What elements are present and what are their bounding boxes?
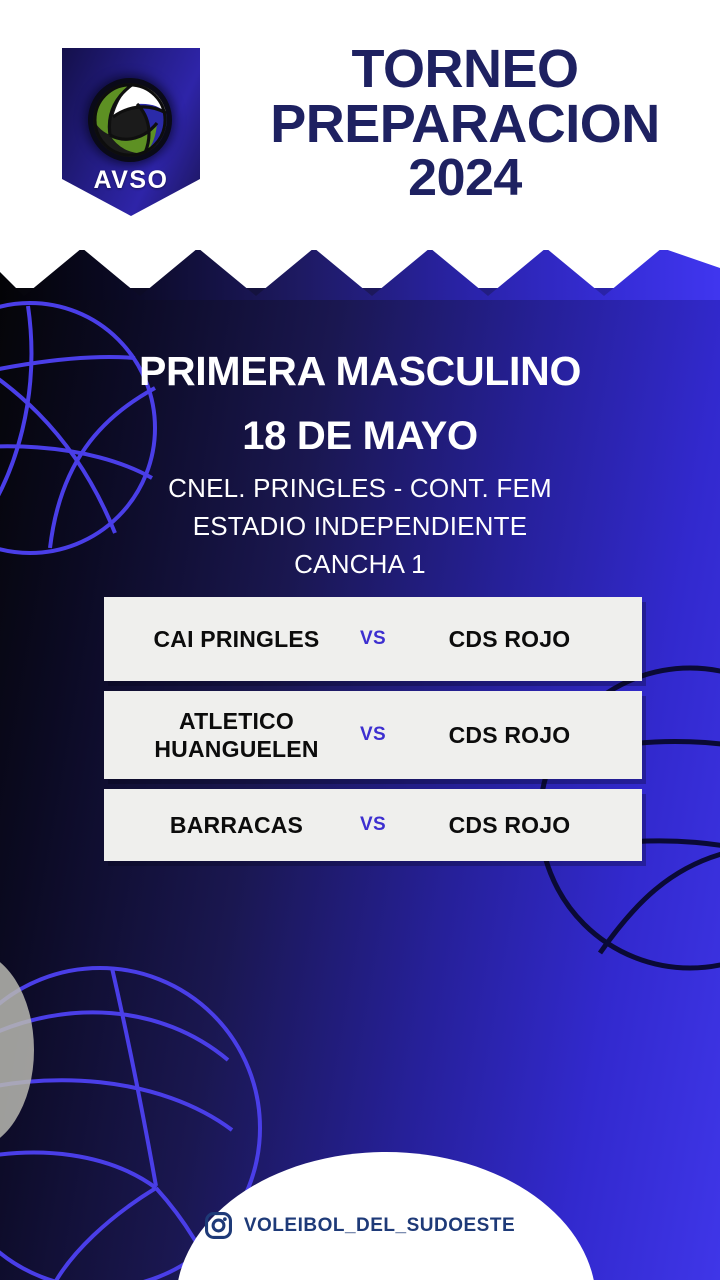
- home-team-name: CAI PRINGLES: [132, 625, 345, 653]
- venue-label: ESTADIO INDEPENDIENTE: [0, 511, 720, 542]
- category-label: PRIMERA MASCULINO: [0, 348, 720, 395]
- home-team-name: BARRACAS: [132, 811, 345, 839]
- poster-header: AVSO TORNEO PREPARACION 2024: [0, 0, 720, 250]
- logo-abbreviation: AVSO: [62, 166, 200, 195]
- away-team-name: CDS ROJO: [401, 625, 614, 653]
- title-line-2: PREPARACION: [225, 97, 705, 152]
- tournament-poster: AVSO TORNEO PREPARACION 2024 PRIMERA MAS…: [0, 0, 720, 1280]
- instagram-icon[interactable]: [205, 1212, 232, 1239]
- title-line-3: 2024: [225, 152, 705, 205]
- match-list: CAI PRINGLES VS CDS ROJO ATLETICO HUANGU…: [104, 597, 642, 871]
- home-team-name: ATLETICO HUANGUELEN: [132, 707, 345, 763]
- court-label: CANCHA 1: [0, 549, 720, 580]
- vs-label: VS: [345, 724, 401, 746]
- social-footer[interactable]: VOLEIBOL_DEL_SUDOESTE: [0, 1212, 720, 1239]
- location-label: CNEL. PRINGLES - CONT. FEM: [0, 473, 720, 504]
- poster-title: TORNEO PREPARACION 2024: [225, 42, 705, 205]
- vs-label: VS: [345, 628, 401, 650]
- away-team-name: CDS ROJO: [401, 721, 614, 749]
- event-date: 18 DE MAYO: [0, 414, 720, 459]
- match-card[interactable]: BARRACAS VS CDS ROJO: [104, 789, 642, 861]
- away-team-name: CDS ROJO: [401, 811, 614, 839]
- event-info: PRIMERA MASCULINO 18 DE MAYO CNEL. PRING…: [0, 348, 720, 580]
- instagram-handle[interactable]: VOLEIBOL_DEL_SUDOESTE: [244, 1215, 515, 1237]
- match-card[interactable]: ATLETICO HUANGUELEN VS CDS ROJO: [104, 691, 642, 779]
- title-line-1: TORNEO: [225, 42, 705, 97]
- volleyball-icon: [88, 78, 172, 162]
- vs-label: VS: [345, 814, 401, 836]
- match-card[interactable]: CAI PRINGLES VS CDS ROJO: [104, 597, 642, 681]
